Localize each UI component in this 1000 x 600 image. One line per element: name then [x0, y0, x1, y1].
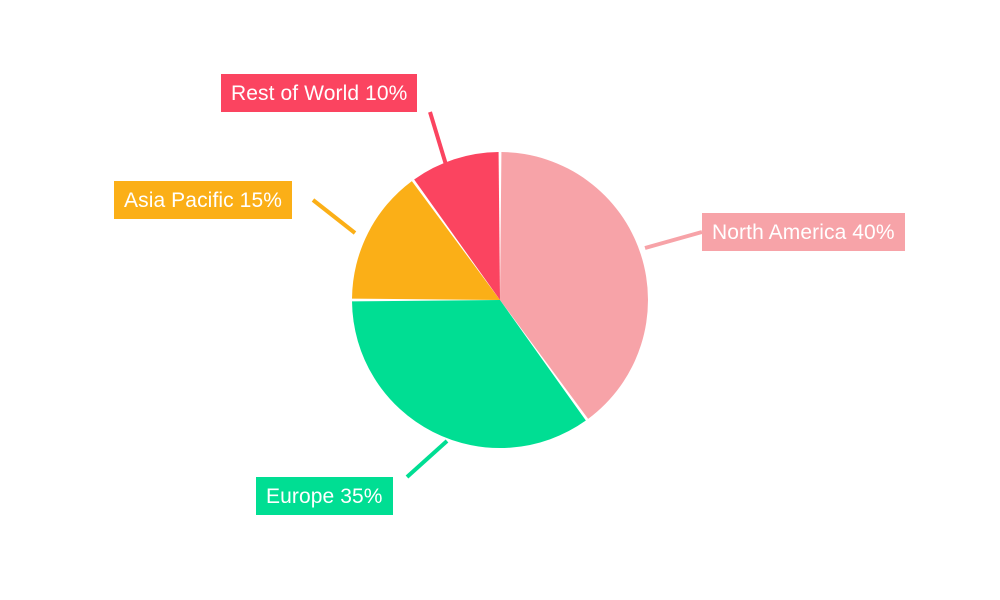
- pie-label-north-america-text: North America 40%: [712, 222, 895, 243]
- pie-label-asia-pacific: Asia Pacific 15%: [114, 181, 292, 219]
- pie-chart-canvas: [0, 0, 1000, 600]
- leader-line-asia-pacific: [313, 200, 355, 233]
- pie-label-europe-text: Europe 35%: [266, 486, 383, 507]
- pie-label-north-america: North America 40%: [702, 213, 905, 251]
- pie-chart-figure: North America 40% Europe 35% Asia Pacifi…: [0, 0, 1000, 600]
- pie-label-asia-pacific-text: Asia Pacific 15%: [124, 190, 282, 211]
- pie-slices: [352, 152, 648, 448]
- leader-line-rest-of-world: [430, 112, 447, 168]
- leader-line-north-america: [645, 232, 702, 248]
- pie-label-rest-of-world: Rest of World 10%: [221, 74, 417, 112]
- pie-label-rest-of-world-text: Rest of World 10%: [231, 83, 407, 104]
- pie-label-europe: Europe 35%: [256, 477, 393, 515]
- leader-line-europe: [407, 441, 447, 477]
